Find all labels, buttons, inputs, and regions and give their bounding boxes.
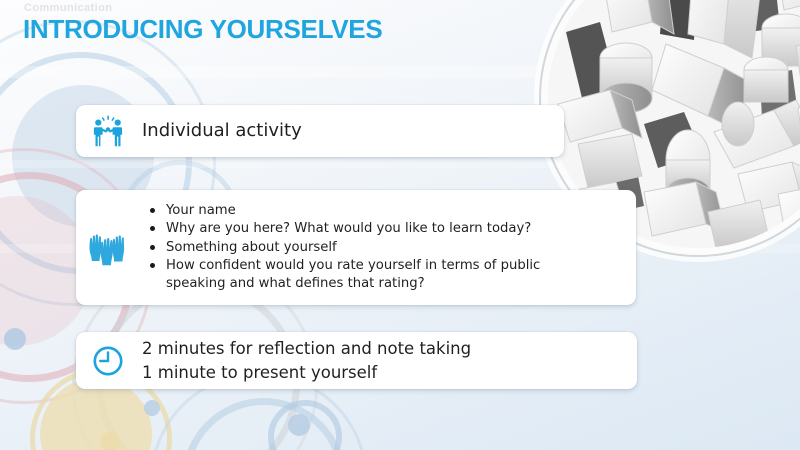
page-title: INTRODUCING YOURSELVES — [23, 14, 382, 45]
timing-card: 2 minutes for reflection and note taking… — [76, 332, 637, 389]
decor-dot-blue-left — [4, 328, 26, 350]
list-item: How confident would you rate yourself in… — [166, 257, 581, 292]
decor-dot-cream — [100, 432, 120, 450]
timing-line-present: 1 minute to present yourself — [142, 361, 637, 384]
list-item: Why are you here? What would you like to… — [166, 220, 636, 238]
activity-label: Individual activity — [142, 119, 564, 142]
title-ghost-text: Communication — [24, 2, 112, 14]
list-item: Something about yourself — [166, 239, 636, 257]
list-item: Your name — [166, 202, 636, 220]
slide-canvas: Communication INTRODUCING YOURSELVES — [0, 0, 800, 450]
two-people-high-five-icon — [86, 109, 130, 153]
questions-card: Your name Why are you here? What would y… — [76, 190, 636, 305]
decor-dot-blue-lower — [144, 400, 160, 416]
raised-hands-icon — [84, 226, 128, 270]
timing-card-body: 2 minutes for reflection and note taking… — [130, 337, 637, 384]
activity-card: Individual activity — [76, 105, 564, 157]
clock-icon — [86, 339, 130, 383]
questions-list: Your name Why are you here? What would y… — [140, 202, 636, 293]
timing-line-reflection: 2 minutes for reflection and note taking — [142, 337, 637, 360]
activity-card-body: Individual activity — [130, 119, 564, 142]
questions-card-body: Your name Why are you here? What would y… — [128, 202, 636, 294]
